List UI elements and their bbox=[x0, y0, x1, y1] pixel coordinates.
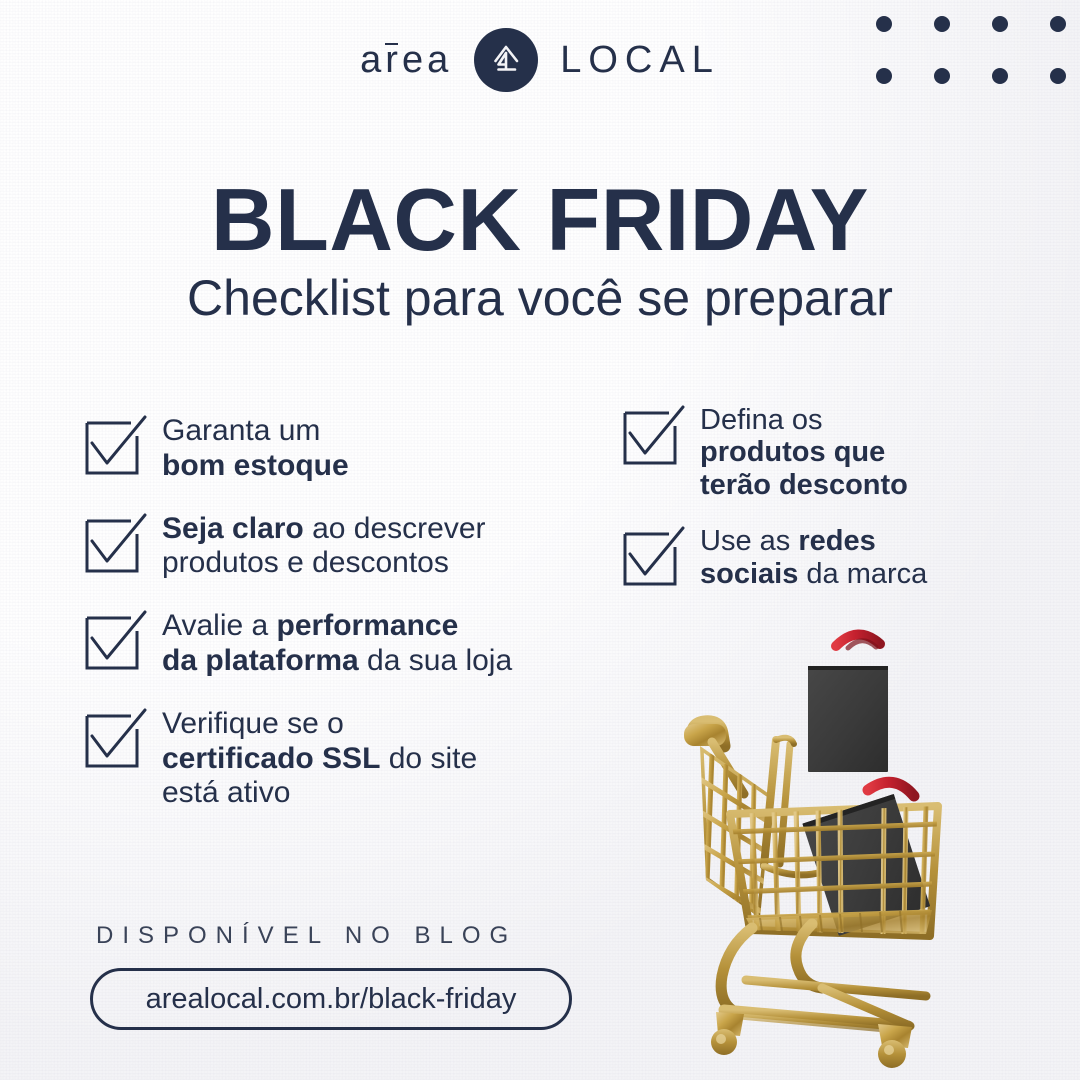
checklist-item-line: produtos que bbox=[700, 436, 908, 468]
checklist-plain: ao descrever bbox=[304, 512, 486, 545]
checkbox-checked-icon[interactable] bbox=[84, 514, 146, 576]
checklist-item-text: Seja claro ao descreverprodutos e descon… bbox=[162, 510, 486, 582]
checklist-emphasis: certificado SSL bbox=[162, 742, 380, 775]
cart-basket bbox=[730, 782, 938, 936]
checklist-item-line: Seja claro ao descrever bbox=[162, 512, 486, 547]
checklist-emphasis: redes bbox=[798, 525, 875, 557]
cart-undercarriage bbox=[721, 924, 926, 1030]
blog-url-text: arealocal.com.br/black-friday bbox=[146, 983, 517, 1016]
checklist-column-left: Garanta umbom estoqueSeja claro ao descr… bbox=[84, 412, 624, 837]
arrow-up-monogram-icon bbox=[474, 28, 538, 92]
checklist-emphasis: sociais bbox=[700, 558, 798, 590]
checkbox-checked-icon[interactable] bbox=[84, 611, 146, 673]
checklist-item-line: Avalie a performance bbox=[162, 609, 512, 644]
blog-availability-label: DISPONÍVEL NO BLOG bbox=[96, 922, 517, 950]
checklist-plain: Garanta um bbox=[162, 414, 320, 447]
checklist-item-line: da plataforma da sua loja bbox=[162, 644, 512, 679]
checklist-plain: produtos e descontos bbox=[162, 546, 449, 579]
checklist-item-line: terão desconto bbox=[700, 469, 908, 501]
checklist-item[interactable]: Avalie a performanceda plataforma da sua… bbox=[84, 607, 624, 679]
checklist-item-text: Defina osprodutos queterão desconto bbox=[700, 402, 908, 501]
checkbox-checked-icon[interactable] bbox=[622, 406, 684, 468]
checklist-plain: Defina os bbox=[700, 404, 823, 436]
checklist-plain: do site bbox=[380, 742, 477, 775]
checklist-column-right: Defina osprodutos queterão descontoUse a… bbox=[622, 402, 1042, 612]
checkbox-checked-icon[interactable] bbox=[84, 416, 146, 478]
checklist-item-line: Verifique se o bbox=[162, 707, 477, 742]
page-title: BLACK FRIDAY bbox=[0, 176, 1080, 264]
checklist-item-line: bom estoque bbox=[162, 449, 349, 484]
poster-canvas: area LOCAL BLACK FRIDAY Checklist para v… bbox=[0, 0, 1080, 1080]
checklist-item[interactable]: Seja claro ao descreverprodutos e descon… bbox=[84, 510, 624, 582]
checklist-emphasis: Seja claro bbox=[162, 512, 304, 545]
brand-logo: area LOCAL bbox=[0, 28, 1080, 92]
checklist-plain: da marca bbox=[798, 558, 927, 590]
checklist-item-line: produtos e descontos bbox=[162, 546, 486, 581]
macron-accent bbox=[385, 43, 398, 45]
checklist-plain: Use as bbox=[700, 525, 798, 557]
checklist-item-line: Garanta um bbox=[162, 414, 349, 449]
checkbox-checked-icon[interactable] bbox=[84, 709, 146, 771]
checklist-item-text: Verifique se ocertificado SSL do siteest… bbox=[162, 705, 477, 811]
checklist-item-line: está ativo bbox=[162, 776, 477, 811]
brand-word-area-text: area bbox=[360, 39, 452, 81]
checklist-item-text: Avalie a performanceda plataforma da sua… bbox=[162, 607, 512, 679]
checklist-plain: Verifique se o bbox=[162, 707, 344, 740]
brand-word-local: LOCAL bbox=[560, 41, 720, 79]
checklist-emphasis: terão desconto bbox=[700, 469, 908, 501]
checklist-plain: está ativo bbox=[162, 776, 290, 809]
checklist-plain: Avalie a bbox=[162, 609, 277, 642]
checklist-emphasis: bom estoque bbox=[162, 449, 349, 482]
golden-shopping-cart-illustration bbox=[660, 618, 1080, 1080]
checklist-item[interactable]: Use as redessociais da marca bbox=[622, 523, 1042, 590]
checklist-item-line: sociais da marca bbox=[700, 558, 927, 590]
checkbox-checked-icon[interactable] bbox=[622, 527, 684, 589]
checklist-item-text: Use as redessociais da marca bbox=[700, 523, 927, 590]
brand-word-area: area bbox=[360, 41, 452, 79]
checklist-emphasis: da plataforma bbox=[162, 644, 359, 677]
checklist-emphasis: performance bbox=[277, 609, 459, 642]
page-subtitle: Checklist para você se preparar bbox=[0, 272, 1080, 325]
checklist-plain: da sua loja bbox=[359, 644, 512, 677]
checklist-item-line: certificado SSL do site bbox=[162, 742, 477, 777]
blog-url-button[interactable]: arealocal.com.br/black-friday bbox=[90, 968, 572, 1030]
checklist-item[interactable]: Garanta umbom estoque bbox=[84, 412, 624, 484]
checklist-item-line: Defina os bbox=[700, 404, 908, 436]
checklist-item[interactable]: Defina osprodutos queterão desconto bbox=[622, 402, 1042, 501]
checklist-item-line: Use as redes bbox=[700, 525, 927, 557]
checklist-emphasis: produtos que bbox=[700, 436, 885, 468]
checklist-item-text: Garanta umbom estoque bbox=[162, 412, 349, 484]
checklist-item[interactable]: Verifique se ocertificado SSL do siteest… bbox=[84, 705, 624, 811]
shopping-bag-floating bbox=[808, 634, 888, 772]
